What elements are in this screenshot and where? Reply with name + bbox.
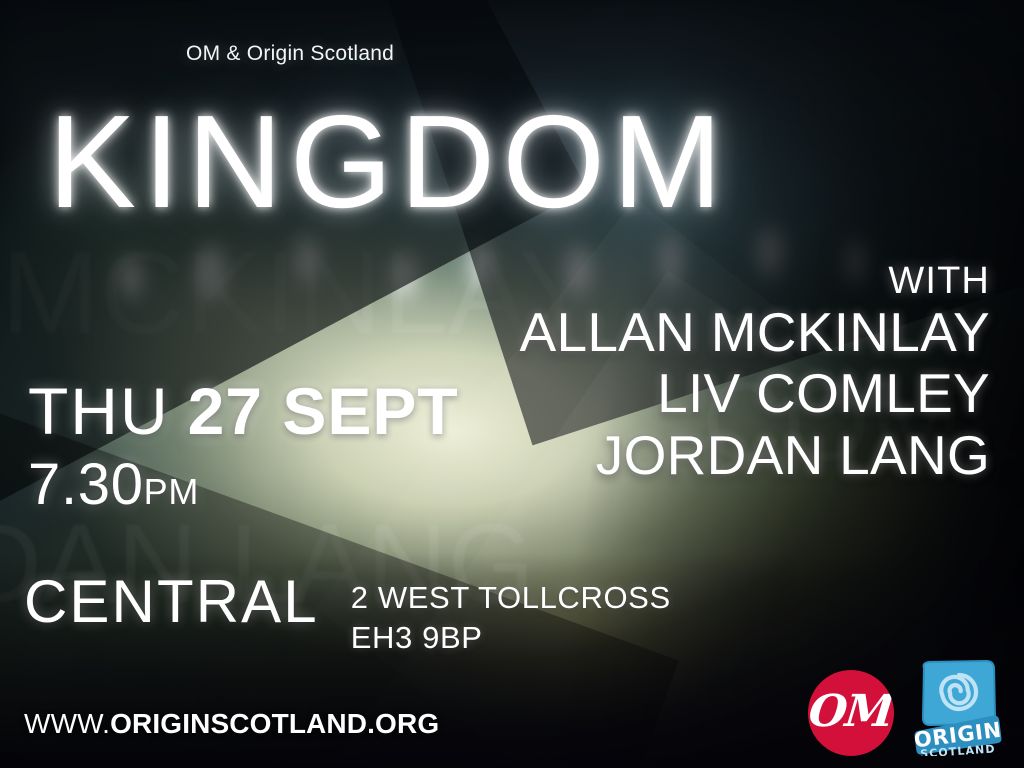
- event-poster: AN MCKINLAY COMLEY RDAN LANG OM & Origin…: [0, 0, 1024, 768]
- website-url[interactable]: WWW.ORIGINSCOTLAND.ORG: [24, 708, 439, 740]
- lineup-block: WITH ALLAN MCKINLAY LIV COMLEY JORDAN LA…: [520, 262, 991, 487]
- lineup-performer-1: ALLAN MCKINLAY: [520, 302, 991, 364]
- page-title: KINGDOM: [48, 96, 730, 228]
- venue-address: 2 WEST TOLLCROSS EH3 9BP: [351, 578, 671, 659]
- date-line: THU27 SEPT: [28, 378, 459, 444]
- website-url-prefix: WWW.: [24, 708, 110, 739]
- time-line: 7.30PM: [28, 456, 459, 514]
- lineup-performer-3: JORDAN LANG: [520, 425, 991, 487]
- lineup-with-label: WITH: [520, 262, 991, 302]
- time-value: 7.30: [28, 452, 144, 517]
- venue-name: CENTRAL: [24, 572, 319, 632]
- date-daymonth: 27 SEPT: [188, 374, 459, 448]
- venue-block: CENTRAL 2 WEST TOLLCROSS EH3 9BP: [24, 572, 671, 659]
- origin-scotland-logo-icon: ORIGIN SCOTLAND: [912, 658, 1004, 756]
- om-logo: OM: [808, 670, 894, 756]
- poster-content: OM & Origin Scotland KINGDOM WITH ALLAN …: [0, 0, 1024, 768]
- venue-address-line-1: 2 WEST TOLLCROSS: [351, 578, 671, 618]
- lineup-performer-2: LIV COMLEY: [520, 363, 991, 425]
- date-weekday: THU: [28, 374, 170, 448]
- origin-scotland-logo: ORIGIN SCOTLAND: [912, 658, 1004, 756]
- logo-group: OM ORIGIN: [808, 658, 1004, 756]
- website-url-domain: ORIGINSCOTLAND.ORG: [110, 708, 439, 739]
- presenter-credit: OM & Origin Scotland: [186, 42, 394, 66]
- datetime-block: THU27 SEPT 7.30PM: [28, 378, 459, 514]
- venue-address-line-2: EH3 9BP: [351, 618, 671, 658]
- time-meridiem: PM: [144, 471, 199, 512]
- om-logo-mark: OM: [808, 690, 894, 734]
